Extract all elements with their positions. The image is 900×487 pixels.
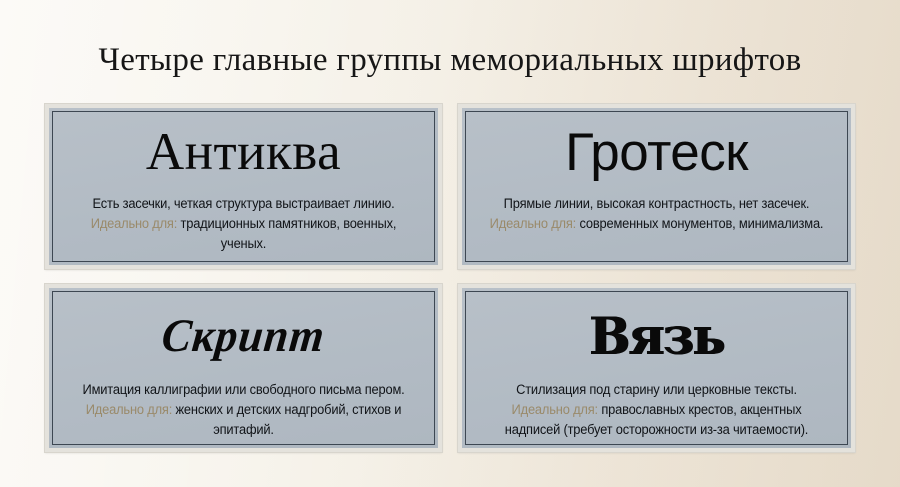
card-body: Есть засечки, четкая структура выстраива…	[49, 194, 438, 262]
card-heading-wrap: Скрипт	[49, 288, 438, 380]
font-group-grid: Антиква Есть засечки, четкая структура в…	[45, 104, 855, 452]
ideal-for-value: женских и детских надгробий, стихов и эп…	[176, 402, 402, 436]
card-body: Стилизация под старину или церковные тек…	[462, 380, 851, 448]
card-description: Прямые линии, высокая контрастность, нет…	[484, 194, 829, 213]
ideal-for-value: современных монументов, минимализма.	[579, 216, 823, 231]
card-ideal-for: Идеально для: современных монументов, ми…	[484, 214, 829, 233]
font-group-card-script[interactable]: Скрипт Имитация каллиграфии или свободно…	[45, 284, 442, 452]
card-ideal-for: Идеально для: православных крестов, акце…	[484, 400, 829, 438]
card-description: Есть засечки, четкая структура выстраива…	[71, 194, 416, 213]
card-heading-wrap: Гротеск	[462, 108, 851, 194]
ideal-for-label: Идеально для:	[490, 216, 576, 231]
card-description: Стилизация под старину или церковные тек…	[484, 380, 829, 399]
page-title: Четыре главные группы мемориальных шрифт…	[99, 0, 802, 78]
card-heading-wrap: Вязь	[462, 288, 851, 380]
card-description: Имитация каллиграфии или свободного пись…	[71, 380, 416, 399]
font-sample-antikva: Антиква	[146, 126, 341, 179]
card-heading-wrap: Антиква	[49, 108, 438, 194]
ideal-for-label: Идеально для:	[512, 402, 598, 417]
font-group-card-vyaz[interactable]: Вязь Стилизация под старину или церковны…	[458, 284, 855, 452]
ideal-for-label: Идеально для:	[91, 216, 177, 231]
card-body: Прямые линии, высокая контрастность, нет…	[462, 194, 851, 243]
font-group-card-grotesk[interactable]: Гротеск Прямые линии, высокая контрастно…	[458, 104, 855, 269]
slide-canvas: Четыре главные группы мемориальных шрифт…	[0, 0, 900, 487]
font-group-card-antikva[interactable]: Антиква Есть засечки, четкая структура в…	[45, 104, 442, 269]
font-sample-grotesk: Гротеск	[565, 126, 748, 179]
font-sample-vyaz: Вязь	[589, 311, 724, 363]
ideal-for-label: Идеально для:	[86, 402, 172, 417]
card-ideal-for: Идеально для: женских и детских надгроби…	[71, 400, 416, 438]
card-body: Имитация каллиграфии или свободного пись…	[49, 380, 438, 448]
card-ideal-for: Идеально для: традиционных памятников, в…	[71, 214, 416, 252]
ideal-for-value: традиционных памятников, военных, ученых…	[181, 216, 397, 250]
font-sample-script: Скрипт	[160, 313, 328, 360]
